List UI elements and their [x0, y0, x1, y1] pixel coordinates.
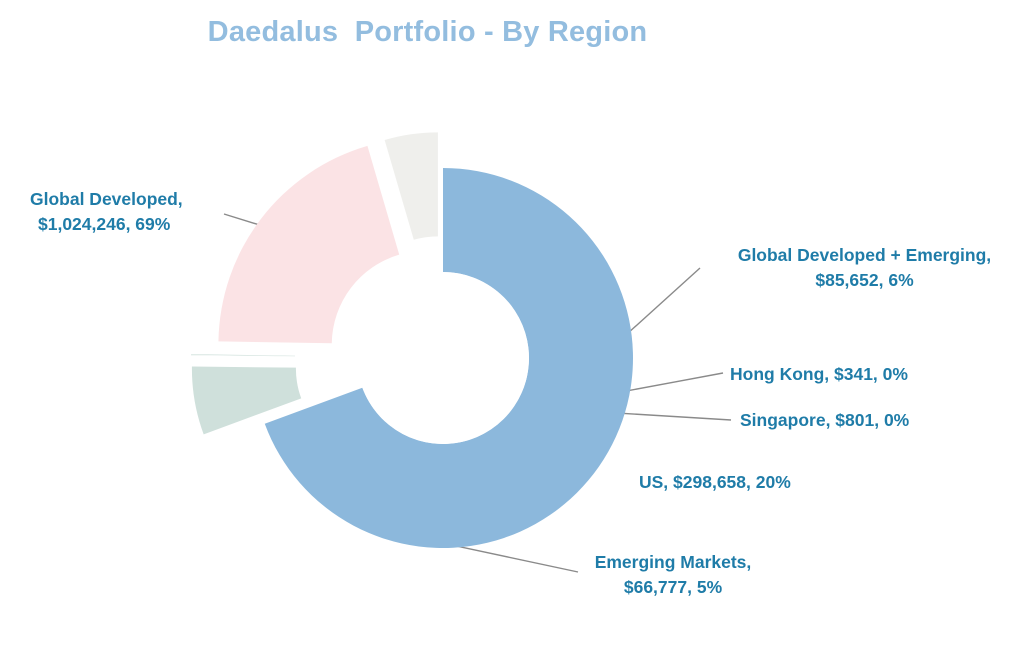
label-global-developed-emerging-line1: Global Developed + Emerging,	[712, 243, 1017, 268]
label-global-developed: Global Developed, $1,024,246, 69%	[30, 187, 183, 237]
label-us-line1: US, $298,658, 20%	[639, 470, 791, 495]
label-emerging-markets-line1: Emerging Markets,	[578, 550, 768, 575]
label-global-developed-emerging: Global Developed + Emerging, $85,652, 6%	[712, 243, 1017, 293]
slice-emerging-markets[interactable]	[385, 132, 438, 239]
label-global-developed-line2: $1,024,246, 69%	[30, 212, 183, 237]
donut-slices	[191, 132, 633, 548]
label-hong-kong: Hong Kong, $341, 0%	[730, 362, 908, 387]
label-global-developed-line1: Global Developed,	[30, 187, 183, 212]
label-us: US, $298,658, 20%	[639, 470, 791, 495]
label-hong-kong-line1: Hong Kong, $341, 0%	[730, 362, 908, 387]
chart-page: Daedalus Portfolio - By Region	[0, 0, 1024, 652]
label-emerging-markets: Emerging Markets, $66,777, 5%	[578, 550, 768, 600]
label-singapore-line1: Singapore, $801, 0%	[740, 408, 909, 433]
donut-chart	[0, 0, 1024, 652]
label-singapore: Singapore, $801, 0%	[740, 408, 909, 433]
donut-hole	[357, 272, 529, 444]
label-emerging-markets-line2: $66,777, 5%	[578, 575, 768, 600]
label-global-developed-emerging-line2: $85,652, 6%	[712, 268, 1017, 293]
